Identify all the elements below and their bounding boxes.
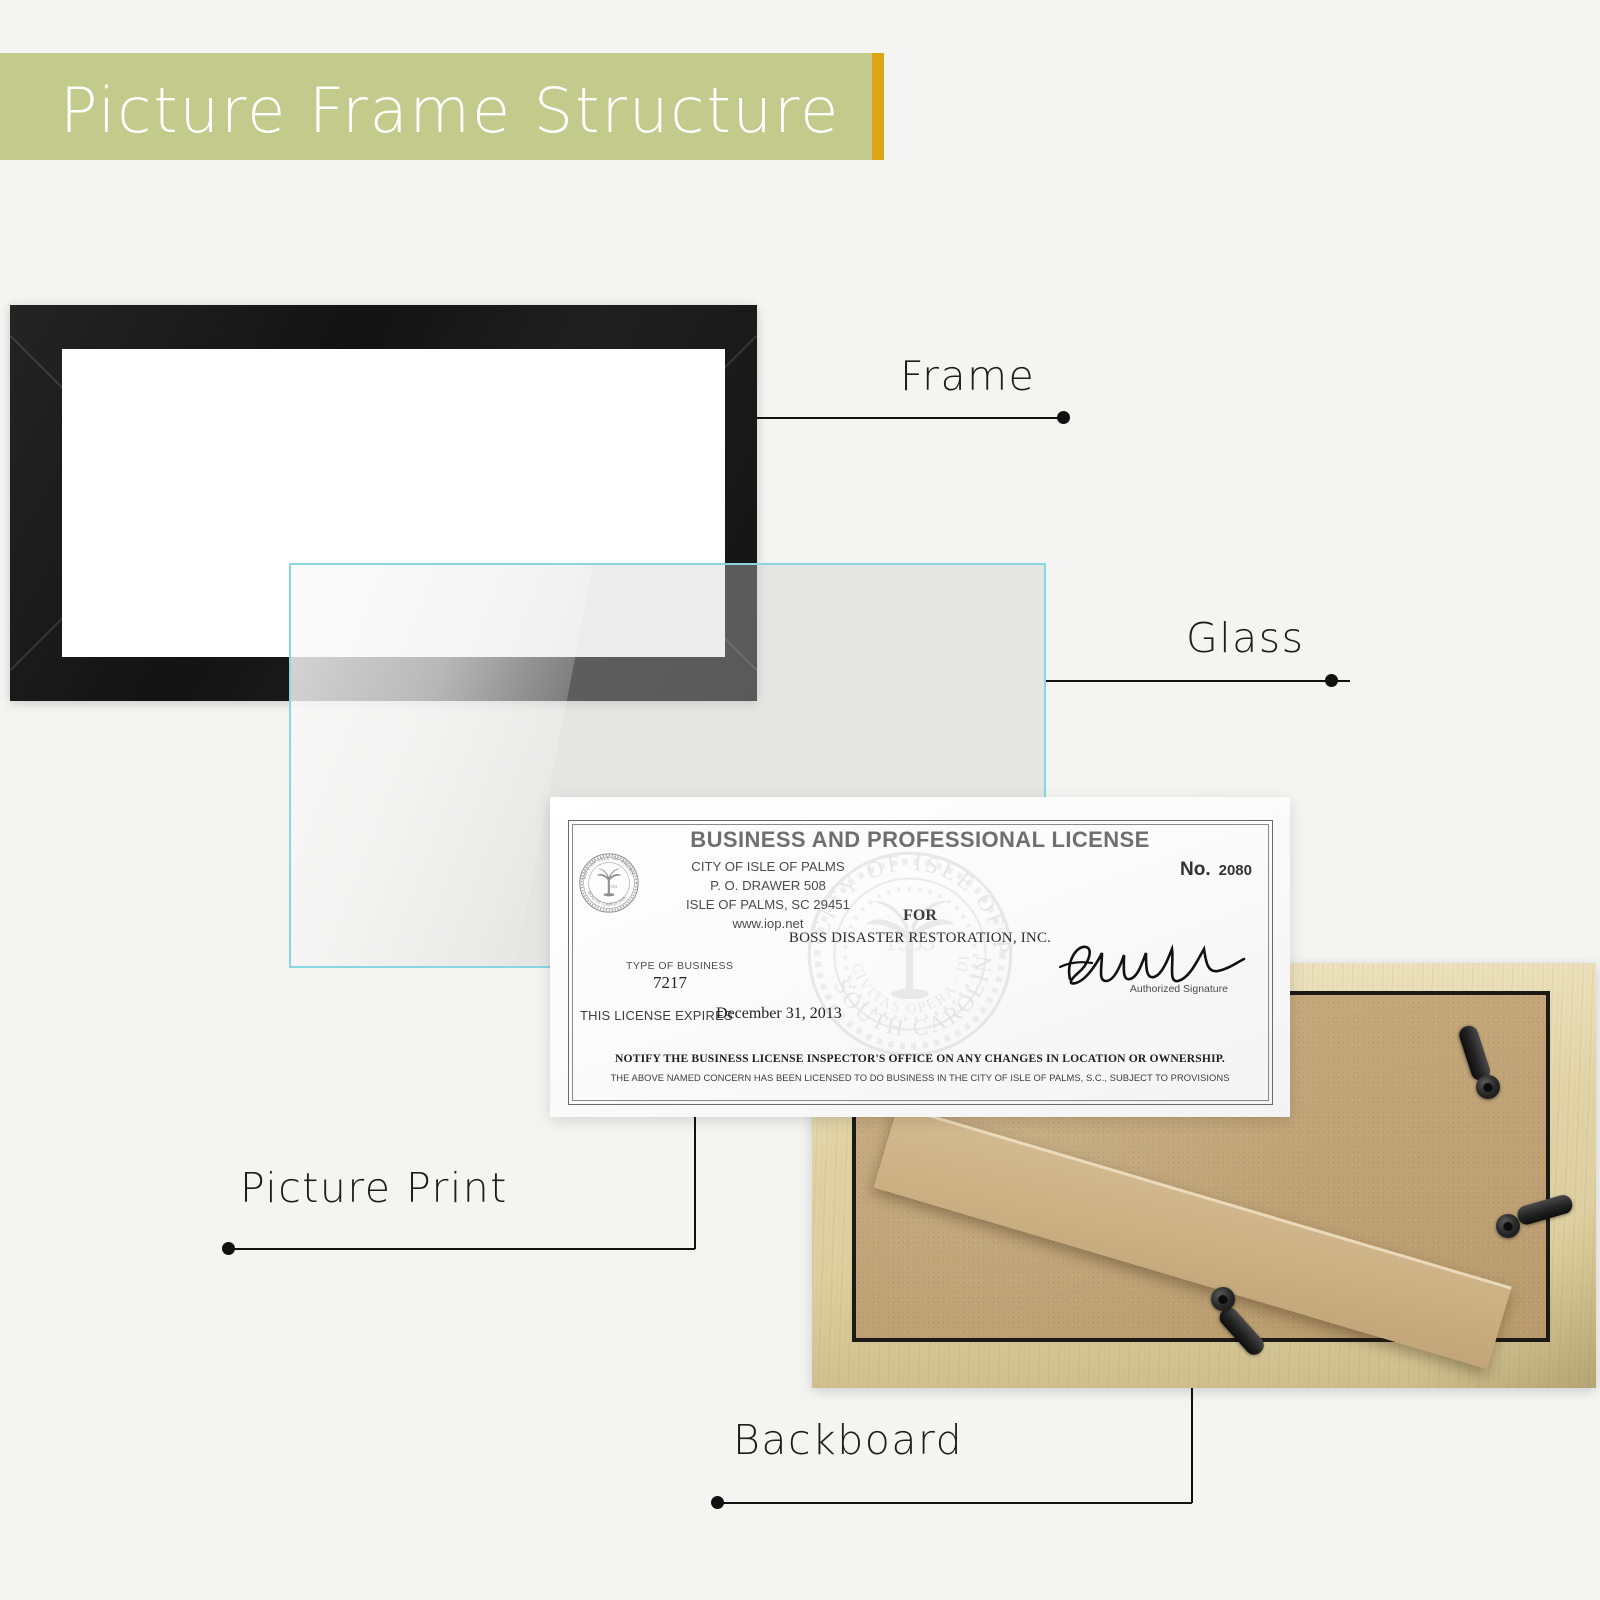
callout-leader-picture-print-horizontal	[231, 1248, 695, 1250]
callout-label-picture-print: Picture Print	[240, 1164, 508, 1212]
callout-dot-frame	[1057, 411, 1070, 424]
license-address-line-2: P. O. DRAWER 508	[628, 876, 908, 895]
license-type-of-business-value: 7217	[653, 973, 687, 993]
license-fine-print: THE ABOVE NAMED CONCERN HAS BEEN LICENSE…	[550, 1072, 1290, 1083]
infographic-canvas: Picture Frame Structure	[0, 0, 1600, 1600]
callout-leader-picture-print-vertical	[694, 1117, 696, 1249]
page-title: Picture Frame Structure	[60, 63, 840, 159]
frame-mitre-bottom-left	[10, 616, 65, 671]
license-for-label: FOR	[550, 907, 1290, 925]
callout-label-glass: Glass	[1186, 614, 1305, 662]
license-number-label: No.	[1180, 859, 1211, 880]
turn-clip-pivot	[1211, 1287, 1235, 1311]
license-expires-label: THIS LICENSE EXPIRES	[580, 1008, 733, 1023]
callout-dot-picture-print	[222, 1242, 235, 1255]
callout-label-frame: Frame	[900, 352, 1035, 400]
callout-leader-backboard-horizontal	[719, 1502, 1192, 1504]
license-expires-value: December 31, 2013	[716, 1005, 842, 1023]
license-notify-line: NOTIFY THE BUSINESS LICENSE INSPECTOR'S …	[550, 1052, 1290, 1065]
license-number-block: No.2080	[1180, 859, 1252, 881]
picture-print-part: CITY OF ISLE OF PALMS SOUTH CAROLINA CIV…	[550, 797, 1290, 1117]
turn-clip-pivot	[1476, 1075, 1500, 1099]
callout-label-backboard: Backboard	[733, 1416, 963, 1464]
header-accent-bar	[872, 53, 884, 160]
callout-dot-glass	[1325, 674, 1338, 687]
turn-clip-pivot	[1496, 1214, 1520, 1238]
license-title: BUSINESS AND PROFESSIONAL LICENSE	[550, 827, 1290, 853]
callout-dot-backboard	[711, 1496, 724, 1509]
frame-mitre-top-left	[10, 335, 65, 390]
license-type-of-business-label: TYPE OF BUSINESS	[626, 960, 733, 972]
license-number-value: 2080	[1211, 862, 1252, 879]
license-address-line-1: CITY OF ISLE OF PALMS	[628, 857, 908, 876]
svg-text:1953: 1953	[608, 884, 617, 889]
callout-leader-backboard-vertical	[1191, 1388, 1193, 1503]
license-signature-label: Authorized Signature	[1130, 983, 1228, 995]
callout-leader-glass	[1046, 680, 1350, 682]
callout-leader-frame	[757, 417, 1063, 419]
